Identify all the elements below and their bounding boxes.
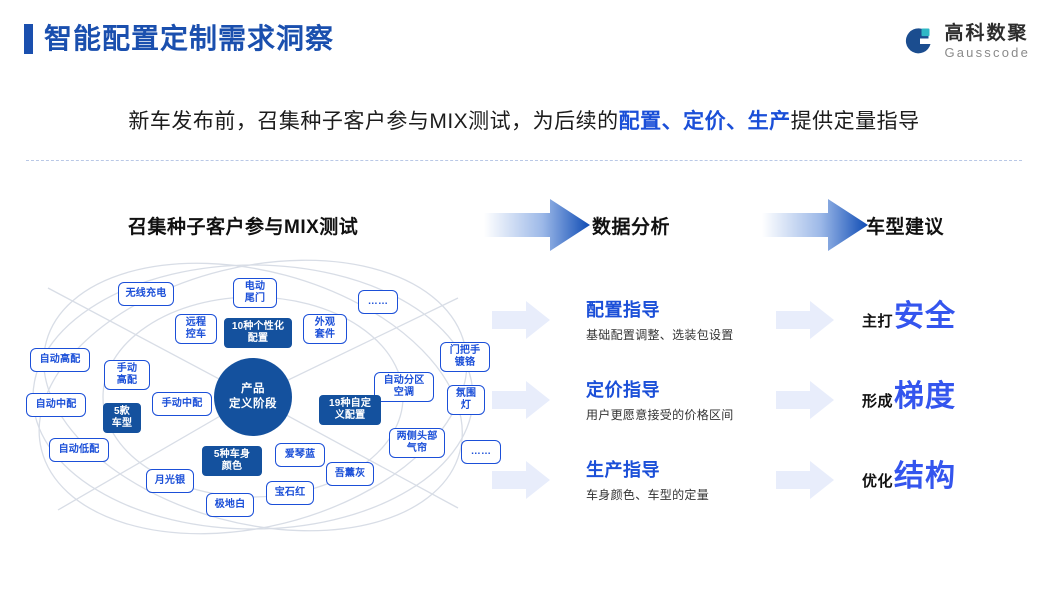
logo-name-cn: 高科数聚	[944, 24, 1030, 43]
mindmap-node: 宝石红	[266, 481, 314, 505]
mindmap-hub: 产品 定义阶段	[214, 358, 292, 436]
mindmap-node-label: ……	[368, 296, 388, 308]
mindmap-node-label: 两侧头部	[397, 431, 438, 443]
title-accent-bar	[24, 24, 33, 54]
analysis-row-title: 定价指导	[586, 378, 806, 402]
mindmap-node: 10种个性化配置	[224, 318, 292, 348]
mindmap-node-label: 配置	[248, 333, 268, 345]
mindmap-node-label: 19种自定	[329, 398, 371, 410]
subtitle-highlight: 配置、定价、生产	[619, 110, 791, 133]
analysis-row-pricing: 定价指导 用户更愿意接受的价格区间	[586, 378, 806, 423]
mindmap-node: 自动低配	[49, 438, 109, 462]
mindmap-node: 19种自定义配置	[319, 395, 381, 425]
mindmap-node: 极地白	[206, 493, 254, 517]
mindmap-node: 无线充电	[118, 282, 174, 306]
mindmap-node: 外观套件	[303, 314, 347, 344]
column-header-advice: 车型建议	[866, 212, 944, 239]
mindmap-node: 氛围灯	[447, 385, 485, 415]
analysis-row-desc: 用户更愿意接受的价格区间	[586, 407, 806, 423]
mindmap-node-label: 镀铬	[455, 357, 475, 369]
mindmap-node-label: 套件	[315, 329, 335, 341]
mindmap-node: 5种车身颜色	[202, 446, 262, 476]
mindmap-diagram: 产品 定义阶段 无线充电电动尾门……远程控车10种个性化配置外观套件门把手镀铬自…	[18, 258, 498, 548]
analysis-row-production: 生产指导 车身颜色、车型的定量	[586, 458, 806, 503]
slide: 智能配置定制需求洞察 高科数聚 Gausscode 新车发布前，召集种子客户参与…	[0, 0, 1048, 589]
mindmap-node: 电动尾门	[233, 278, 277, 308]
advice-row-safety: 主打 安全	[862, 300, 956, 334]
mindmap-node-label: 门把手	[450, 345, 481, 357]
mindmap-node-label: 自动高配	[40, 354, 81, 366]
mindmap-node-label: 外观	[315, 317, 335, 329]
advice-row-structure: 优化 结构	[862, 460, 956, 494]
mindmap-node-label: 爱琴蓝	[285, 449, 316, 461]
analysis-row-configuration: 配置指导 基础配置调整、选装包设置	[586, 298, 806, 343]
mindmap-node: 爱琴蓝	[275, 443, 325, 467]
section-divider	[26, 160, 1022, 161]
mindmap-node-label: 电动	[245, 281, 265, 293]
mindmap-node-label: 手动	[117, 363, 137, 375]
column-header-mix: 召集种子客户参与MIX测试	[128, 212, 358, 239]
mindmap-node-label: 高配	[117, 375, 137, 387]
mindmap-node-label: 无线充电	[126, 288, 167, 300]
mindmap-node-label: 吾薰灰	[335, 468, 366, 480]
advice-prefix: 主打	[862, 310, 893, 331]
advice-keyword: 梯度	[894, 380, 956, 414]
advice-keyword: 结构	[894, 460, 956, 494]
mindmap-node-label: 10种个性化	[232, 321, 284, 333]
mindmap-node-label: 气帘	[407, 443, 427, 455]
mindmap-node-label: 灯	[461, 400, 471, 412]
mindmap-node: 门把手镀铬	[440, 342, 490, 372]
hub-line-2: 定义阶段	[229, 397, 277, 412]
mindmap-node-label: 5款	[114, 406, 130, 418]
mindmap-node-label: 氛围	[456, 388, 476, 400]
advice-prefix: 形成	[862, 390, 893, 411]
hub-line-1: 产品	[241, 382, 265, 397]
mindmap-node-label: 尾门	[245, 293, 265, 305]
mindmap-node: 手动高配	[104, 360, 150, 390]
mindmap-node: 远程控车	[175, 314, 217, 344]
mindmap-node-label: 控车	[186, 329, 206, 341]
mindmap-node-label: 远程	[186, 317, 206, 329]
mindmap-node: ……	[358, 290, 398, 314]
logo-text: 高科数聚 Gausscode	[944, 24, 1030, 59]
advice-prefix: 优化	[862, 470, 893, 491]
mindmap-node-label: 宝石红	[275, 487, 306, 499]
slide-header: 智能配置定制需求洞察 高科数聚 Gausscode	[0, 0, 1048, 78]
mindmap-node-label: 义配置	[335, 410, 366, 422]
subtitle-part1: 新车发布前，召集种子客户参与MIX测试，为后续的	[128, 110, 618, 133]
mindmap-node-label: 空调	[394, 387, 414, 399]
mindmap-node-label: ……	[471, 446, 491, 458]
row-arrow-left-1-icon	[492, 300, 550, 340]
logo-name-en: Gausscode	[944, 46, 1030, 59]
analysis-row-title: 配置指导	[586, 298, 806, 322]
mindmap-node-label: 5种车身	[214, 449, 250, 461]
mindmap-node: 自动中配	[26, 393, 86, 417]
column-header-analysis: 数据分析	[592, 212, 670, 239]
brand-logo: 高科数聚 Gausscode	[901, 18, 1030, 64]
advice-row-gradient: 形成 梯度	[862, 380, 956, 414]
analysis-row-desc: 车身颜色、车型的定量	[586, 487, 806, 503]
mindmap-node: 吾薰灰	[326, 462, 374, 486]
mindmap-node: 两侧头部气帘	[389, 428, 445, 458]
mindmap-node-label: 月光银	[155, 475, 186, 487]
mindmap-node-label: 手动中配	[162, 398, 203, 410]
page-title: 智能配置定制需求洞察	[44, 20, 334, 58]
subtitle: 新车发布前，召集种子客户参与MIX测试，为后续的配置、定价、生产提供定量指导	[0, 105, 1048, 135]
analysis-row-title: 生产指导	[586, 458, 806, 482]
mindmap-node: 自动分区空调	[374, 372, 434, 402]
mindmap-node-label: 自动中配	[36, 399, 77, 411]
mindmap-node-label: 自动低配	[59, 444, 100, 456]
mindmap-node: 5款车型	[103, 403, 141, 433]
mindmap-node-label: 颜色	[222, 461, 242, 473]
row-arrow-left-3-icon	[492, 460, 550, 500]
mindmap-node: 自动高配	[30, 348, 90, 372]
gausscode-logo-icon	[901, 24, 935, 58]
mindmap-node: 月光银	[146, 469, 194, 493]
subtitle-part2: 提供定量指导	[791, 110, 920, 133]
analysis-row-desc: 基础配置调整、选装包设置	[586, 327, 806, 343]
row-arrow-left-2-icon	[492, 380, 550, 420]
advice-keyword: 安全	[894, 300, 956, 334]
mindmap-node-label: 车型	[112, 418, 132, 430]
mindmap-node-label: 自动分区	[384, 375, 425, 387]
flow-arrow-2-icon	[762, 198, 868, 252]
mindmap-node-label: 极地白	[215, 499, 246, 511]
flow-arrow-1-icon	[484, 198, 590, 252]
mindmap-node: 手动中配	[152, 392, 212, 416]
